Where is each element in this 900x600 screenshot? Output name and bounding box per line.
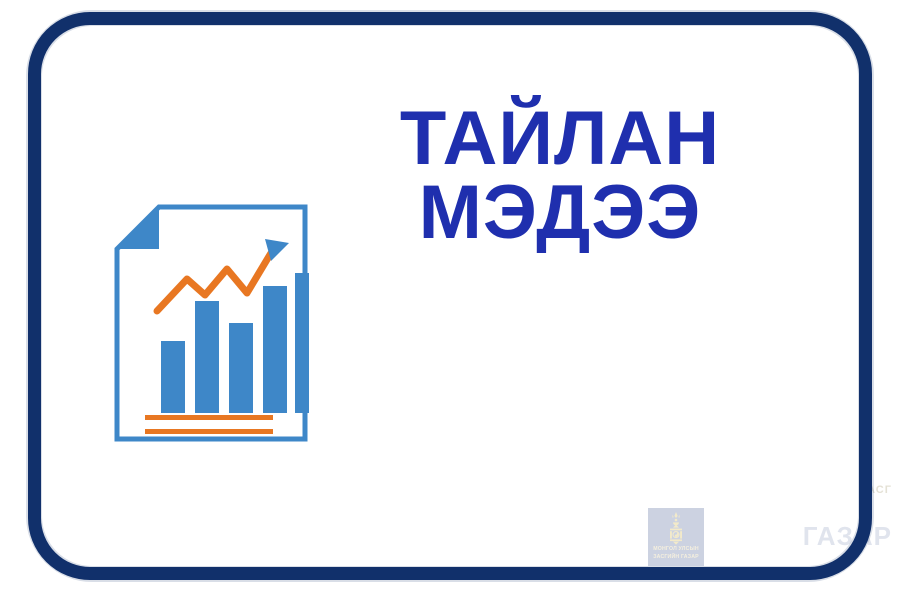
background-watermark: ЗАСГ ГАЗАР — [770, 430, 892, 578]
poster-canvas: ЗАСГ ГАЗАР — [0, 0, 900, 600]
chart-bar-1 — [161, 341, 185, 413]
document-text-line — [145, 415, 273, 420]
seal-caption-line-2: ЗАСГИЙН ГАЗАР — [653, 554, 699, 561]
chart-bar-3 — [229, 323, 253, 413]
soyombo-icon — [665, 511, 687, 545]
document-text-line — [145, 429, 273, 434]
chart-bar-5 — [295, 273, 309, 413]
background-watermark-small: ЗАСГ — [770, 485, 892, 497]
chart-bar-4 — [263, 286, 287, 413]
report-document-icon — [113, 203, 309, 443]
background-watermark-text: ГАЗАР — [803, 521, 892, 551]
chart-bar-2 — [195, 301, 219, 413]
headline-line-2: МЭДЭЭ — [340, 178, 780, 248]
document-folded-corner — [117, 207, 159, 249]
government-seal-watermark: МОНГОЛ УЛСЫН ЗАСГИЙН ГАЗАР — [648, 508, 704, 566]
seal-caption-line-1: МОНГОЛ УЛСЫН — [653, 546, 699, 553]
headline-line-1: ТАЙЛАН — [400, 96, 720, 181]
poster-headline: ТАЙЛАН МЭДЭЭ — [340, 104, 780, 248]
